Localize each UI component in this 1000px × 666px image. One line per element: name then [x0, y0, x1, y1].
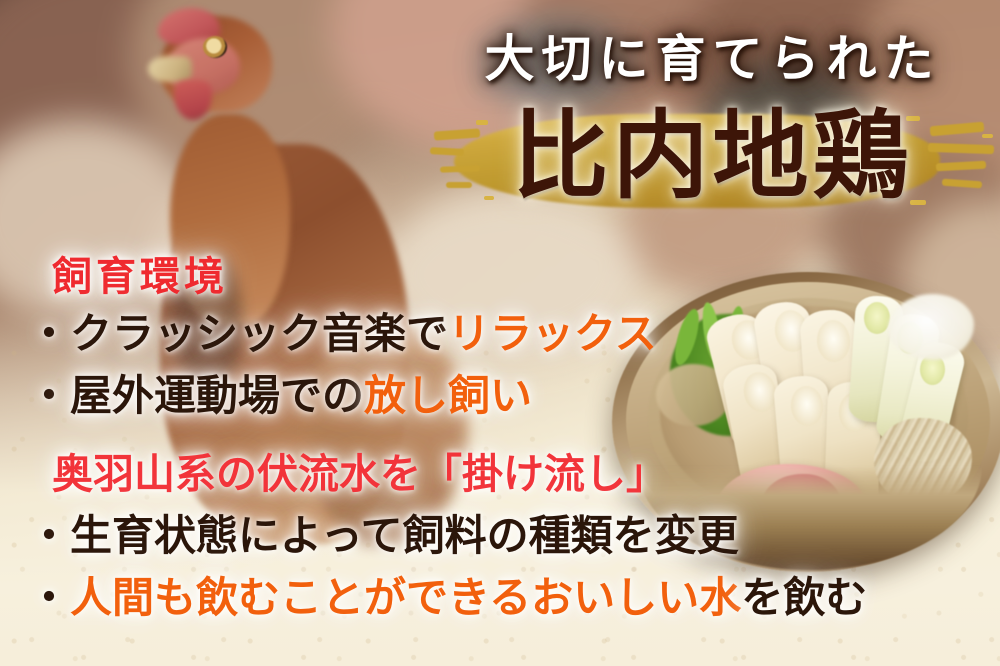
headline-text: 大切に育てられた — [440, 33, 985, 86]
bullet-text-segment: 生育状態によって飼料の種類を変更 — [70, 512, 739, 559]
page-title: 比内地鶏 — [430, 104, 995, 210]
bullet-line-feed-variation: ・生育状態によって飼料の種類を変更 — [28, 502, 739, 563]
bullet-text-highlight: リラックス — [448, 310, 657, 357]
promo-poster: 大切に育てられた 比内地鶏 — [0, 0, 1000, 666]
bullet-line-classical-music: ・クラッシック音楽でリラックス — [28, 300, 657, 361]
feature-line-spring-water: 奥羽山系の伏流水を「掛け流し」 — [52, 440, 667, 500]
feature-text: 奥羽山系の伏流水を「掛け流し」 — [52, 451, 667, 497]
bullet-line-drinkable-water: ・人間も飲むことができるおいしい水を飲む — [28, 564, 867, 625]
bullet-mark: ・ — [28, 574, 70, 621]
bullet-text-highlight: 放し飼い — [364, 372, 532, 419]
bullet-mark: ・ — [28, 310, 70, 357]
bullet-text-highlight: 人間も飲むことができるおいしい水 — [70, 574, 741, 621]
section-heading-breeding-environment: 飼育環境 — [52, 244, 228, 302]
bullet-line-free-range: ・屋外運動場での放し飼い — [28, 362, 532, 423]
bullet-mark: ・ — [28, 372, 70, 419]
bullet-text-segment: 屋外運動場での — [70, 372, 364, 419]
bullet-mark: ・ — [28, 512, 70, 559]
bullet-text-segment: クラッシック音楽で — [70, 310, 448, 357]
bullet-text-segment: を飲む — [741, 574, 867, 621]
